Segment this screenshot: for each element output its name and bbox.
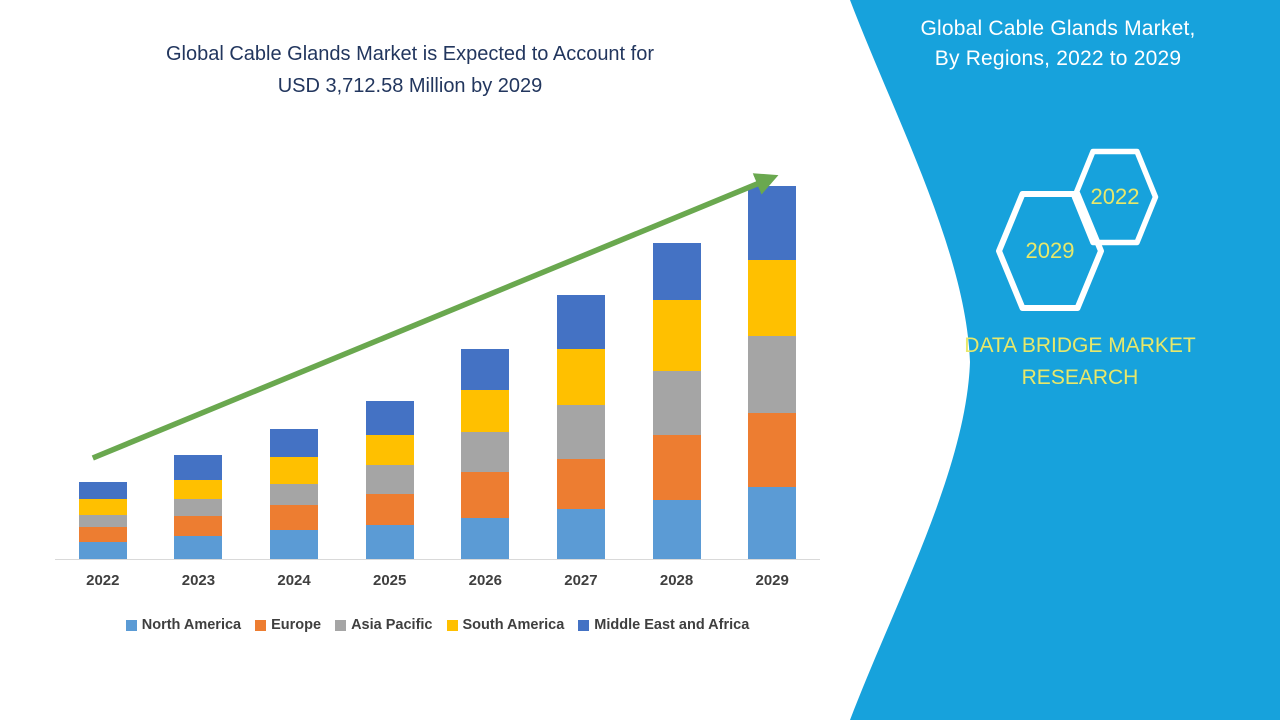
- bar-segment: [557, 295, 605, 349]
- bar-segment: [174, 536, 222, 559]
- brand-name: DATA BRIDGE MARKET RESEARCH: [880, 330, 1280, 394]
- bar-segment: [461, 349, 509, 390]
- bar-segment: [366, 435, 414, 465]
- market-infographic: Global Cable Glands Market is Expected t…: [0, 0, 1280, 720]
- bar-segment: [653, 435, 701, 500]
- hexagon-start-year-label: 2022: [1091, 184, 1140, 210]
- bar-segment: [79, 542, 127, 559]
- x-axis-tick-label: 2023: [151, 572, 247, 589]
- legend-item[interactable]: Asia Pacific: [335, 617, 432, 633]
- bar-column: [342, 154, 438, 559]
- chart-legend: North AmericaEuropeAsia PacificSouth Ame…: [55, 617, 820, 633]
- bar-column: [151, 154, 247, 559]
- bar-segment: [270, 457, 318, 484]
- legend-label: Europe: [271, 617, 321, 633]
- bar-segment: [748, 487, 796, 559]
- bar-segment: [461, 432, 509, 472]
- x-axis-tick-label: 2028: [629, 572, 725, 589]
- year-hexagon-badges: 2029 2022: [985, 148, 1185, 288]
- bar-segment: [461, 390, 509, 432]
- x-axis-tick-label: 2026: [438, 572, 534, 589]
- legend-color-swatch: [255, 620, 266, 631]
- bar-segment: [79, 515, 127, 527]
- bar-column: [246, 154, 342, 559]
- bar-segment: [557, 349, 605, 405]
- bar-segment: [79, 499, 127, 515]
- bar-segment: [270, 484, 318, 505]
- stacked-bar: [366, 401, 414, 559]
- x-axis-tick-label: 2027: [533, 572, 629, 589]
- bar-segment: [748, 413, 796, 487]
- stacked-bar: [270, 429, 318, 559]
- legend-item[interactable]: Europe: [255, 617, 321, 633]
- bar-segment: [174, 480, 222, 499]
- bar-segment: [557, 405, 605, 459]
- bar-segment: [653, 371, 701, 435]
- bar-segment: [174, 455, 222, 480]
- legend-label: Middle East and Africa: [594, 617, 749, 633]
- bar-segment: [653, 300, 701, 371]
- x-axis-tick-label: 2029: [724, 572, 820, 589]
- bar-segment: [748, 336, 796, 413]
- stacked-bar: [653, 243, 701, 559]
- bar-segment: [366, 465, 414, 494]
- legend-color-swatch: [335, 620, 346, 631]
- bar-segment: [557, 459, 605, 509]
- bar-segment: [653, 500, 701, 559]
- bar-segment: [653, 243, 701, 300]
- chart-plot-area: [55, 150, 820, 560]
- hexagon-end-year-label: 2029: [1026, 238, 1075, 264]
- bar-column: [724, 154, 820, 559]
- bar-segment: [366, 401, 414, 435]
- stacked-bar: [79, 482, 127, 559]
- legend-color-swatch: [126, 620, 137, 631]
- bar-segment: [366, 525, 414, 559]
- bar-segment: [79, 482, 127, 499]
- legend-item[interactable]: North America: [126, 617, 241, 633]
- bar-column: [629, 154, 725, 559]
- stacked-bar: [174, 455, 222, 559]
- legend-color-swatch: [447, 620, 458, 631]
- stacked-bar: [557, 295, 605, 559]
- panel-title: Global Cable Glands Market, By Regions, …: [836, 14, 1280, 74]
- stacked-bar: [461, 349, 509, 559]
- bar-segment: [557, 509, 605, 559]
- hexagon-badge-start-year: 2022: [1071, 148, 1159, 246]
- bar-segment: [79, 527, 127, 542]
- bar-segment: [461, 518, 509, 559]
- x-axis-tick-label: 2025: [342, 572, 438, 589]
- legend-label: North America: [142, 617, 241, 633]
- bar-segment: [174, 516, 222, 536]
- x-axis-tick-label: 2022: [55, 572, 151, 589]
- bar-segment: [270, 429, 318, 457]
- legend-item[interactable]: Middle East and Africa: [578, 617, 749, 633]
- bar-column: [533, 154, 629, 559]
- bar-segment: [270, 505, 318, 530]
- bar-segment: [366, 494, 414, 525]
- stacked-bar: [748, 186, 796, 559]
- x-axis-labels: 20222023202420252026202720282029: [55, 572, 820, 589]
- legend-label: South America: [463, 617, 565, 633]
- x-axis-line: [55, 559, 820, 560]
- bar-segment: [461, 472, 509, 518]
- x-axis-tick-label: 2024: [246, 572, 342, 589]
- page-title: Global Cable Glands Market is Expected t…: [60, 38, 760, 102]
- bar-segment: [748, 260, 796, 336]
- stacked-bar-group: [55, 154, 820, 559]
- bar-column: [55, 154, 151, 559]
- legend-color-swatch: [578, 620, 589, 631]
- bar-segment: [748, 186, 796, 260]
- bar-column: [438, 154, 534, 559]
- legend-item[interactable]: South America: [447, 617, 565, 633]
- bar-segment: [270, 530, 318, 559]
- bar-segment: [174, 499, 222, 516]
- legend-label: Asia Pacific: [351, 617, 432, 633]
